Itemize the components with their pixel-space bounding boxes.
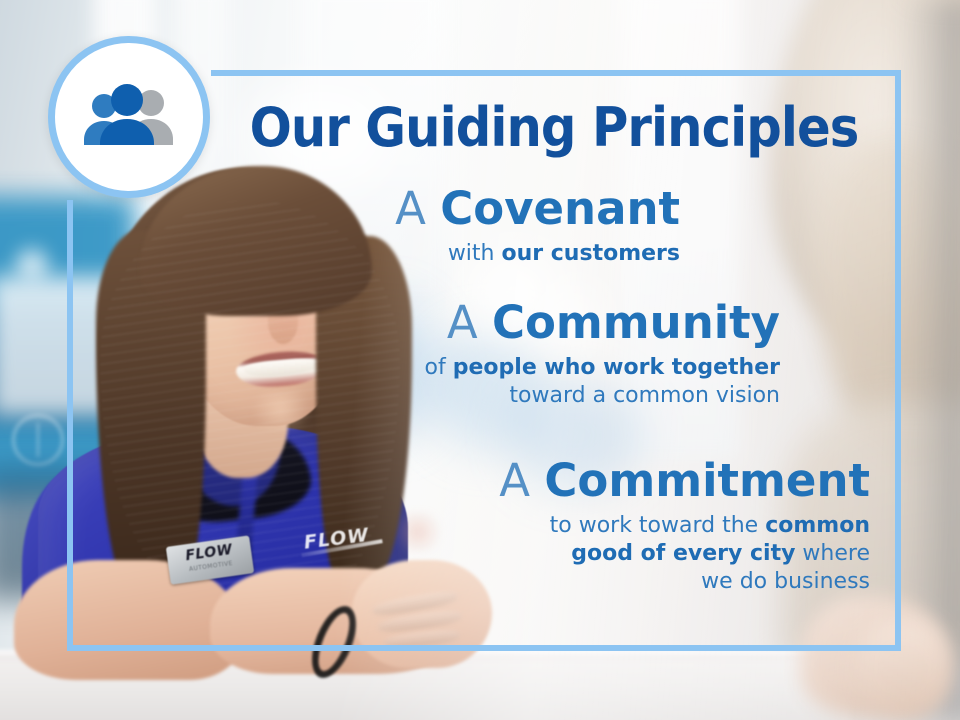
subtitle-line: with our customers [230,240,680,268]
principle-keyword: Community [492,296,780,349]
customer-hand [855,620,950,715]
subtitle-emphasis: our customers [501,241,680,266]
subtitle-emphasis: good of every city [571,541,795,566]
principle-subtitle: to work toward the common good of every … [400,512,870,596]
principle-keyword: Covenant [440,182,680,235]
people-group-icon [78,82,180,152]
car-emblem [12,414,64,466]
frame-border-top [211,70,901,76]
subtitle-line: of people who work together [320,354,780,382]
subtitle-text: with [448,241,502,266]
principle-commitment: A Commitment to work toward the common g… [400,458,870,596]
principle-covenant: A Covenant with our customers [230,186,680,268]
frame-border-left [67,200,73,651]
principle-article: A [499,454,530,507]
subtitle-text: where [795,541,870,566]
subtitle-line: good of every city where [400,540,870,568]
principle-heading: A Community [320,300,780,346]
subtitle-line: to work toward the common [400,512,870,540]
principle-article: A [447,296,478,349]
principle-heading: A Covenant [230,186,680,232]
subtitle-emphasis: common [765,513,870,538]
people-group-badge [48,36,210,198]
frame-border-right [895,70,901,651]
principle-subtitle: of people who work together toward a com… [320,354,780,410]
principle-subtitle: with our customers [230,240,680,268]
principle-community: A Community of people who work together … [320,300,780,410]
subtitle-line: toward a common vision [320,382,780,410]
frame-border-bottom [67,645,901,651]
principle-article: A [395,182,426,235]
page-title: Our Guiding Principles [243,96,865,159]
subtitle-emphasis: people who work together [453,355,780,380]
subtitle-text: of [425,355,453,380]
guiding-principles-banner: FLOW AUTOMOTIVE FLOW Our Guiding Princip… [0,0,960,720]
subtitle-text: toward a common vision [509,383,780,408]
subtitle-text: we do business [701,569,870,594]
subtitle-line: we do business [400,568,870,596]
principle-keyword: Commitment [544,454,870,507]
principle-heading: A Commitment [400,458,870,504]
subtitle-text: to work toward the [550,513,766,538]
